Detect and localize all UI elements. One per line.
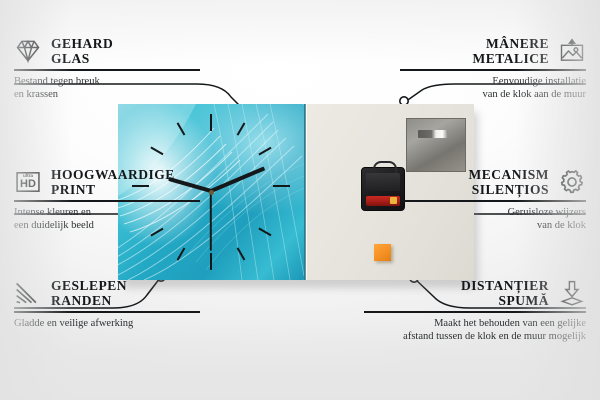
feature-description: Gladde en veilige afwerking xyxy=(14,317,214,331)
feature-description: Bestand tegen breuk en krassen xyxy=(14,75,214,102)
infographic-canvas: GEHARD GLAS Bestand tegen breuk en krass… xyxy=(0,0,600,400)
feature-divider xyxy=(14,311,200,312)
feature-divider xyxy=(14,200,200,201)
feature-description: Intense kleuren en een duidelijk beeld xyxy=(14,206,214,233)
feature-divider xyxy=(400,69,586,70)
feature-title: MÂNERE METALICE xyxy=(472,36,549,66)
feature-title: DISTANȚIER SPUMĂ xyxy=(461,278,549,308)
diamond-icon xyxy=(14,37,42,65)
gear-icon xyxy=(558,168,586,196)
clock-tick xyxy=(273,185,290,187)
clock-tick xyxy=(210,253,212,270)
feature-title: GEHARD GLAS xyxy=(51,36,113,66)
feature-title: HOOGWAARDIGE PRINT xyxy=(51,167,175,197)
feature-manere-metalice: MÂNERE METALICE Eenvoudige installatie v… xyxy=(386,36,586,102)
diagonal-lines-icon xyxy=(14,279,42,307)
feature-distantier-spuma: DISTANȚIER SPUMĂ Maakt het behouden van … xyxy=(350,278,586,344)
press-down-icon xyxy=(558,279,586,307)
foam-spacer xyxy=(374,244,391,261)
feature-mecanism-silentios: MECANISM SILENȚIOS Geruisloze wijzers va… xyxy=(386,167,586,233)
metal-hanger xyxy=(406,118,466,172)
feature-description: Geruisloze wijzers van de klok xyxy=(386,206,586,233)
feature-gehard-glas: GEHARD GLAS Bestand tegen breuk en krass… xyxy=(14,36,214,102)
feature-hoogwaardige-print: ultra HD HOOGWAARDIGE PRINT Intense kleu… xyxy=(14,167,214,233)
framed-picture-icon xyxy=(558,37,586,65)
feature-divider xyxy=(14,69,200,70)
feature-title: MECANISM SILENȚIOS xyxy=(469,167,550,197)
hd-label: HD xyxy=(14,179,42,190)
feature-title: GESLEPEN RANDEN xyxy=(51,278,127,308)
feature-description: Maakt het behouden van een gelijke afsta… xyxy=(350,317,586,344)
hanger-slot xyxy=(418,130,448,138)
feature-divider xyxy=(364,311,586,312)
clock-tick xyxy=(210,114,212,131)
feature-description: Eenvoudige installatie van de klok aan d… xyxy=(386,75,586,102)
feature-divider xyxy=(400,200,586,201)
feature-geslepen-randen: GESLEPEN RANDEN Gladde en veilige afwerk… xyxy=(14,278,214,330)
ultra-hd-icon: ultra HD xyxy=(14,168,42,196)
